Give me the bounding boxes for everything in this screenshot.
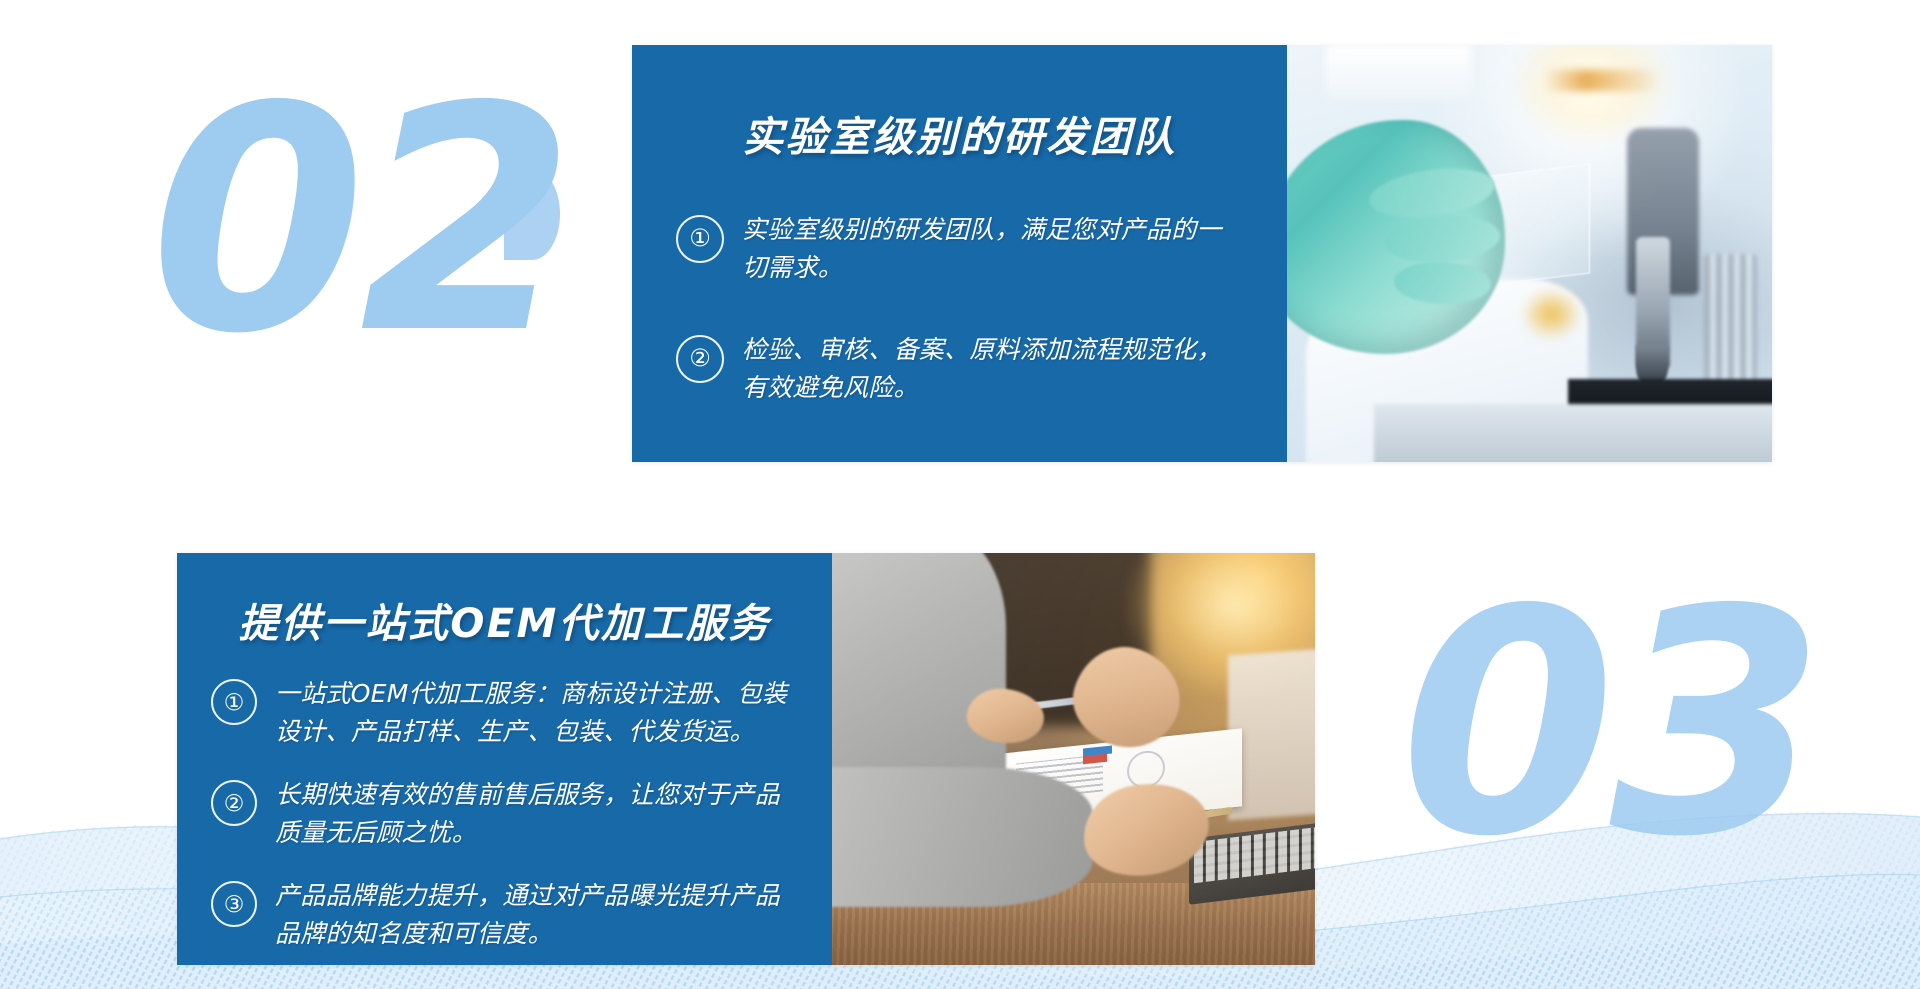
lab-amber-streak: [1544, 70, 1660, 91]
section-number-02: 02: [150, 95, 569, 349]
lab-research-photo: [1287, 45, 1772, 462]
card-02-bullet-1-text: 实验室级别的研发团队，满足您对产品的一切需求。: [742, 211, 1243, 287]
feature-card-02: 实验室级别的研发团队 ① 实验室级别的研发团队，满足您对产品的一切需求。 ② 检…: [632, 45, 1772, 462]
lab-sample-vials: [1704, 254, 1757, 396]
bullet-marker-circle-1-icon: ①: [676, 215, 724, 263]
bullet-marker-circle-3-icon: ③: [211, 881, 257, 927]
section-number-03: 03: [1400, 598, 1819, 852]
card-03-text-pane: 提供一站式OEM代加工服务 ① 一站式OEM代加工服务：商标设计注册、包装设计、…: [177, 553, 832, 965]
card-02-bullet-1: ① 实验室级别的研发团队，满足您对产品的一切需求。: [676, 211, 1243, 287]
card-03-bullet-2-text: 长期快速有效的售前售后服务，让您对于产品质量无后顾之忧。: [275, 776, 798, 851]
card-02-bullet-list: ① 实验室级别的研发团队，满足您对产品的一切需求。 ② 检验、审核、备案、原料添…: [676, 211, 1243, 407]
feature-card-03: 提供一站式OEM代加工服务 ① 一站式OEM代加工服务：商标设计注册、包装设计、…: [177, 553, 1315, 965]
card-03-bullet-3: ③ 产品品牌能力提升，通过对产品曝光提升产品品牌的知名度和可信度。: [211, 877, 798, 952]
bullet-marker-circle-1-icon: ①: [211, 679, 257, 725]
grey-sleeve: [832, 767, 1093, 907]
card-03-bullet-3-text: 产品品牌能力提升，通过对产品曝光提升产品品牌的知名度和可信度。: [275, 877, 798, 952]
bullet-marker-circle-2-icon: ②: [676, 335, 724, 383]
lab-ceiling-light: [1326, 45, 1472, 99]
card-02-bullet-2-text: 检验、审核、备案、原料添加流程规范化，有效避免风险。: [742, 331, 1243, 407]
card-02-text-pane: 实验室级别的研发团队 ① 实验室级别的研发团队，满足您对产品的一切需求。 ② 检…: [632, 45, 1287, 462]
card-03-title: 提供一站式OEM代加工服务: [211, 591, 798, 649]
lab-bench: [1374, 404, 1772, 462]
card-03-bullet-list: ① 一站式OEM代加工服务：商标设计注册、包装设计、产品打样、生产、包装、代发货…: [211, 675, 798, 952]
card-03-bullet-1-text: 一站式OEM代加工服务：商标设计注册、包装设计、产品打样、生产、包装、代发货运。: [275, 675, 798, 750]
card-03-bullet-2: ② 长期快速有效的售前售后服务，让您对于产品质量无后顾之忧。: [211, 776, 798, 851]
bullet-marker-circle-2-icon: ②: [211, 780, 257, 826]
card-02-title: 实验室级别的研发团队: [676, 103, 1243, 163]
business-meeting-photo: [832, 553, 1315, 965]
slide-canvas: 02 03 实验室级别的研发团队 ① 实验室级别的研发团队，满足您对产品的一切需…: [0, 0, 1920, 989]
card-03-bullet-1: ① 一站式OEM代加工服务：商标设计注册、包装设计、产品打样、生产、包装、代发货…: [211, 675, 798, 750]
lab-yellow-blur: [1520, 287, 1583, 341]
card-02-bullet-2: ② 检验、审核、备案、原料添加流程规范化，有效避免风险。: [676, 331, 1243, 407]
